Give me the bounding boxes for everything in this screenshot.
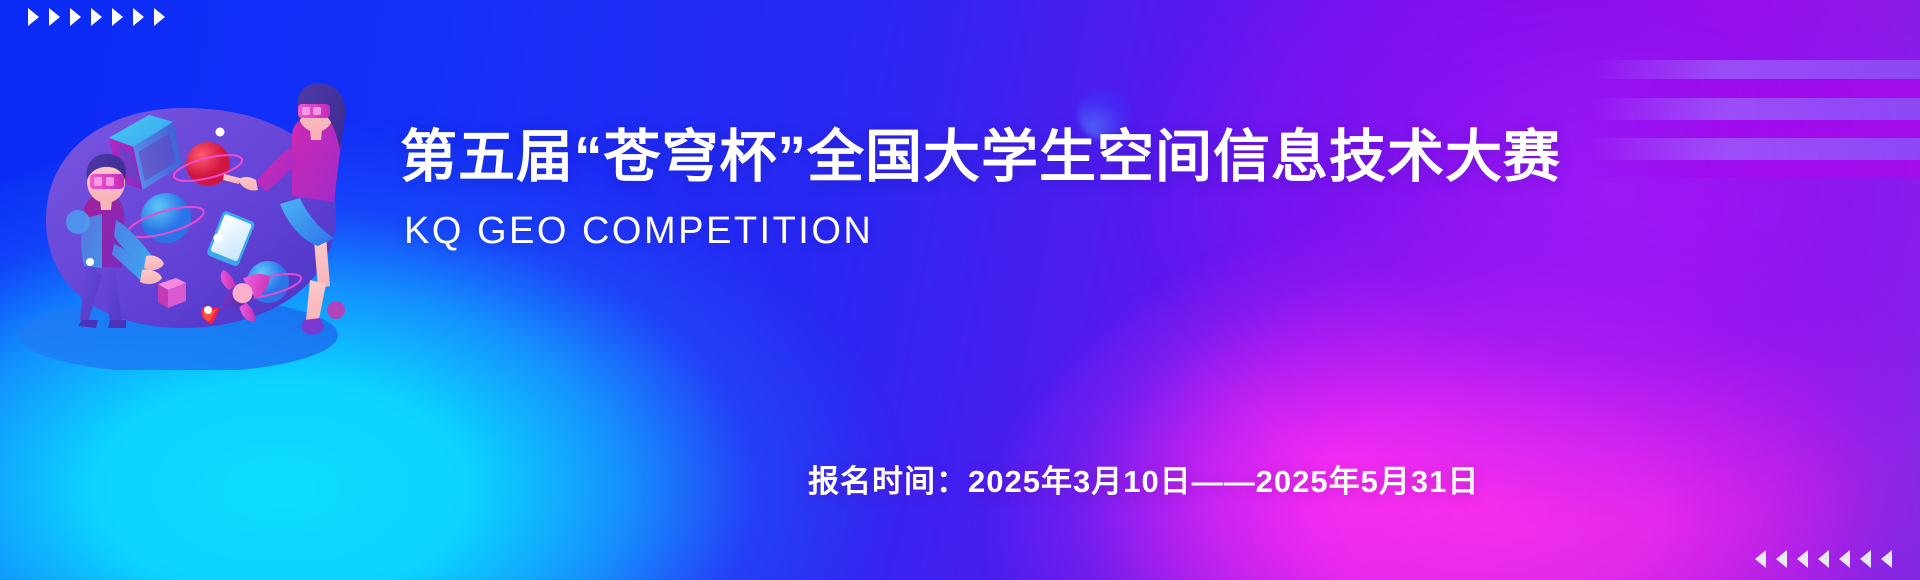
triangle-right-icon <box>112 8 123 26</box>
vr-space-illustration <box>18 70 358 370</box>
triangle-left-icon <box>1818 550 1829 568</box>
bottom-right-arrow-row <box>1755 550 1892 568</box>
decorative-stripes <box>1590 60 1920 178</box>
triangle-right-icon <box>154 8 165 26</box>
stripe-light <box>1590 60 1920 79</box>
page-subtitle: KQ GEO COMPETITION <box>404 211 1561 253</box>
top-left-arrow-row <box>28 8 165 26</box>
triangle-right-icon <box>28 8 39 26</box>
triangle-left-icon <box>1797 550 1808 568</box>
competition-banner: 第五届“苍穹杯”全国大学生空间信息技术大赛 KQ GEO COMPETITION… <box>0 0 1920 580</box>
triangle-left-icon <box>1881 550 1892 568</box>
triangle-right-icon <box>133 8 144 26</box>
stripe-light <box>1590 98 1920 120</box>
triangle-left-icon <box>1776 550 1787 568</box>
triangle-right-icon <box>70 8 81 26</box>
stripe-dark <box>1590 160 1920 178</box>
banner-text-block: 第五届“苍穹杯”全国大学生空间信息技术大赛 KQ GEO COMPETITION <box>400 124 1561 253</box>
small-sphere-right <box>327 301 345 319</box>
stripe-light <box>1590 138 1920 160</box>
page-title: 第五届“苍穹杯”全国大学生空间信息技术大赛 <box>400 124 1561 191</box>
stripe-dark <box>1590 120 1920 138</box>
small-sphere-left <box>66 210 90 234</box>
triangle-left-icon <box>1860 550 1871 568</box>
registration-period: 报名时间：2025年3月10日——2025年5月31日 <box>808 456 1479 501</box>
stripe-dark <box>1590 79 1920 98</box>
triangle-left-icon <box>1839 550 1850 568</box>
triangle-right-icon <box>49 8 60 26</box>
triangle-left-icon <box>1755 550 1766 568</box>
triangle-right-icon <box>91 8 102 26</box>
